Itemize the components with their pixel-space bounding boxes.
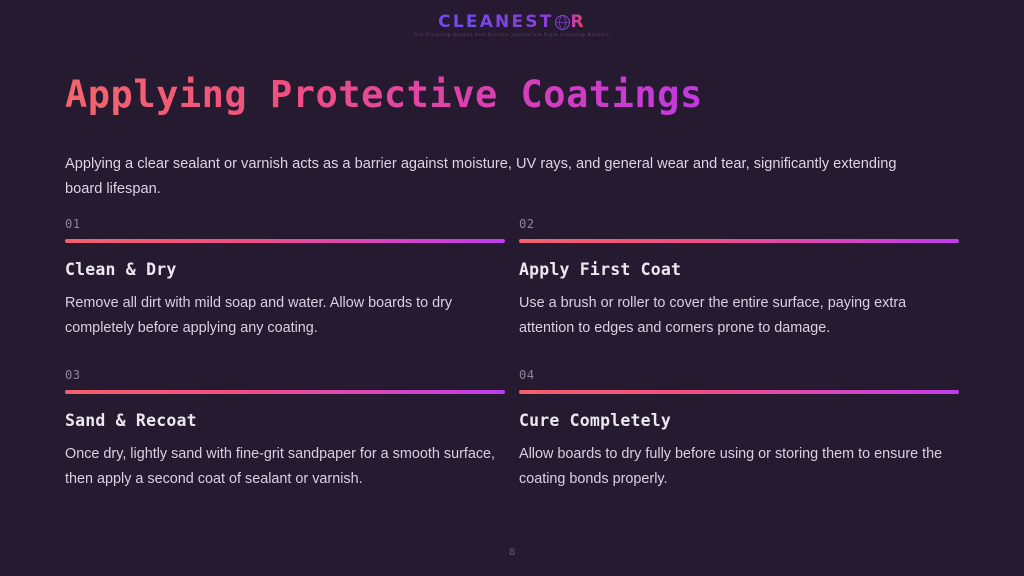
step-body: Allow boards to dry fully before using o… (519, 442, 959, 492)
step-number: 02 (519, 218, 959, 230)
step-divider-rule (519, 390, 959, 394)
step-divider-rule (65, 239, 505, 243)
globe-orb-icon (555, 15, 570, 30)
brand-name-last: R (571, 14, 586, 31)
step-card: 02 Apply First Coat Use a brush or rolle… (519, 218, 959, 341)
step-body: Remove all dirt with mild soap and water… (65, 291, 505, 341)
step-body: Once dry, lightly sand with fine-grit sa… (65, 442, 505, 492)
step-body: Use a brush or roller to cover the entir… (519, 291, 959, 341)
step-number: 01 (65, 218, 505, 230)
step-card: 04 Cure Completely Allow boards to dry f… (519, 369, 959, 492)
step-card: 01 Clean & Dry Remove all dirt with mild… (65, 218, 505, 341)
slide-root: CLEANEST R Pro Cleaning Guides And Servi… (0, 0, 1024, 576)
brand-tagline: Pro Cleaning Guides And Service Journali… (414, 33, 609, 38)
brand-wordmark: CLEANEST R (438, 14, 586, 31)
step-card: 03 Sand & Recoat Once dry, lightly sand … (65, 369, 505, 492)
page-number: 8 (0, 546, 1024, 558)
brand-logo: CLEANEST R Pro Cleaning Guides And Servi… (0, 14, 1024, 37)
page-title: Applying Protective Coatings (65, 74, 703, 117)
intro-paragraph: Applying a clear sealant or varnish acts… (65, 152, 927, 202)
step-title: Clean & Dry (65, 260, 505, 280)
step-title: Sand & Recoat (65, 411, 505, 431)
step-title: Cure Completely (519, 411, 959, 431)
step-divider-rule (519, 239, 959, 243)
step-divider-rule (65, 390, 505, 394)
step-number: 03 (65, 369, 505, 381)
steps-grid: 01 Clean & Dry Remove all dirt with mild… (65, 218, 959, 492)
step-title: Apply First Coat (519, 260, 959, 280)
step-number: 04 (519, 369, 959, 381)
brand-name-first: CLEANEST (438, 14, 553, 31)
